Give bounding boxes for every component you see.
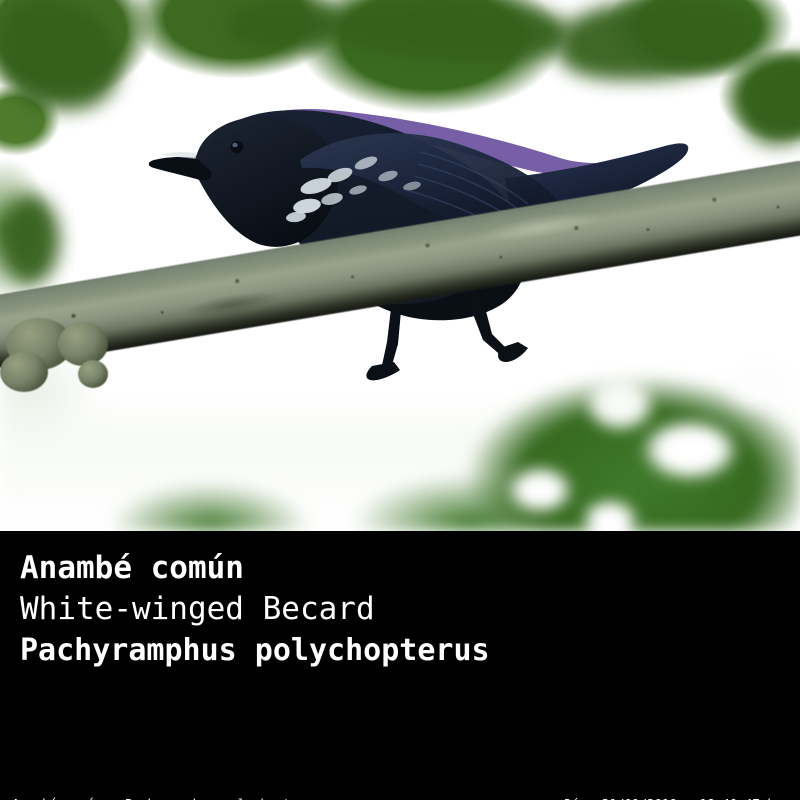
common-name-english: White-winged Becard [20, 588, 490, 630]
bird-photograph [0, 0, 800, 531]
common-name-spanish: Anambé común [20, 548, 490, 588]
bird-photo-card: Anambé común White-winged Becard Pachyra… [0, 0, 800, 800]
species-title-block: Anambé común White-winged Becard Pachyra… [20, 548, 490, 672]
branch-knob [78, 360, 108, 388]
scientific-name: Pachyramphus polychopterus [20, 630, 490, 672]
photo-credit-footer: Anambé común – Pachyramphus polychopteru… [0, 745, 800, 800]
footer-left-block: Anambé común – Pachyramphus polychopteru… [12, 751, 321, 800]
footer-datetime-line: Día: 21/01/2019 – 18:40:47 hs. [527, 793, 790, 800]
branch-knob [0, 352, 48, 392]
footer-species-line: Anambé común – Pachyramphus polychopteru… [12, 793, 321, 800]
branch-knob [58, 322, 108, 366]
footer-right-block: Día: 21/01/2019 – 18:40:47 hs. Reserva E… [527, 751, 790, 800]
